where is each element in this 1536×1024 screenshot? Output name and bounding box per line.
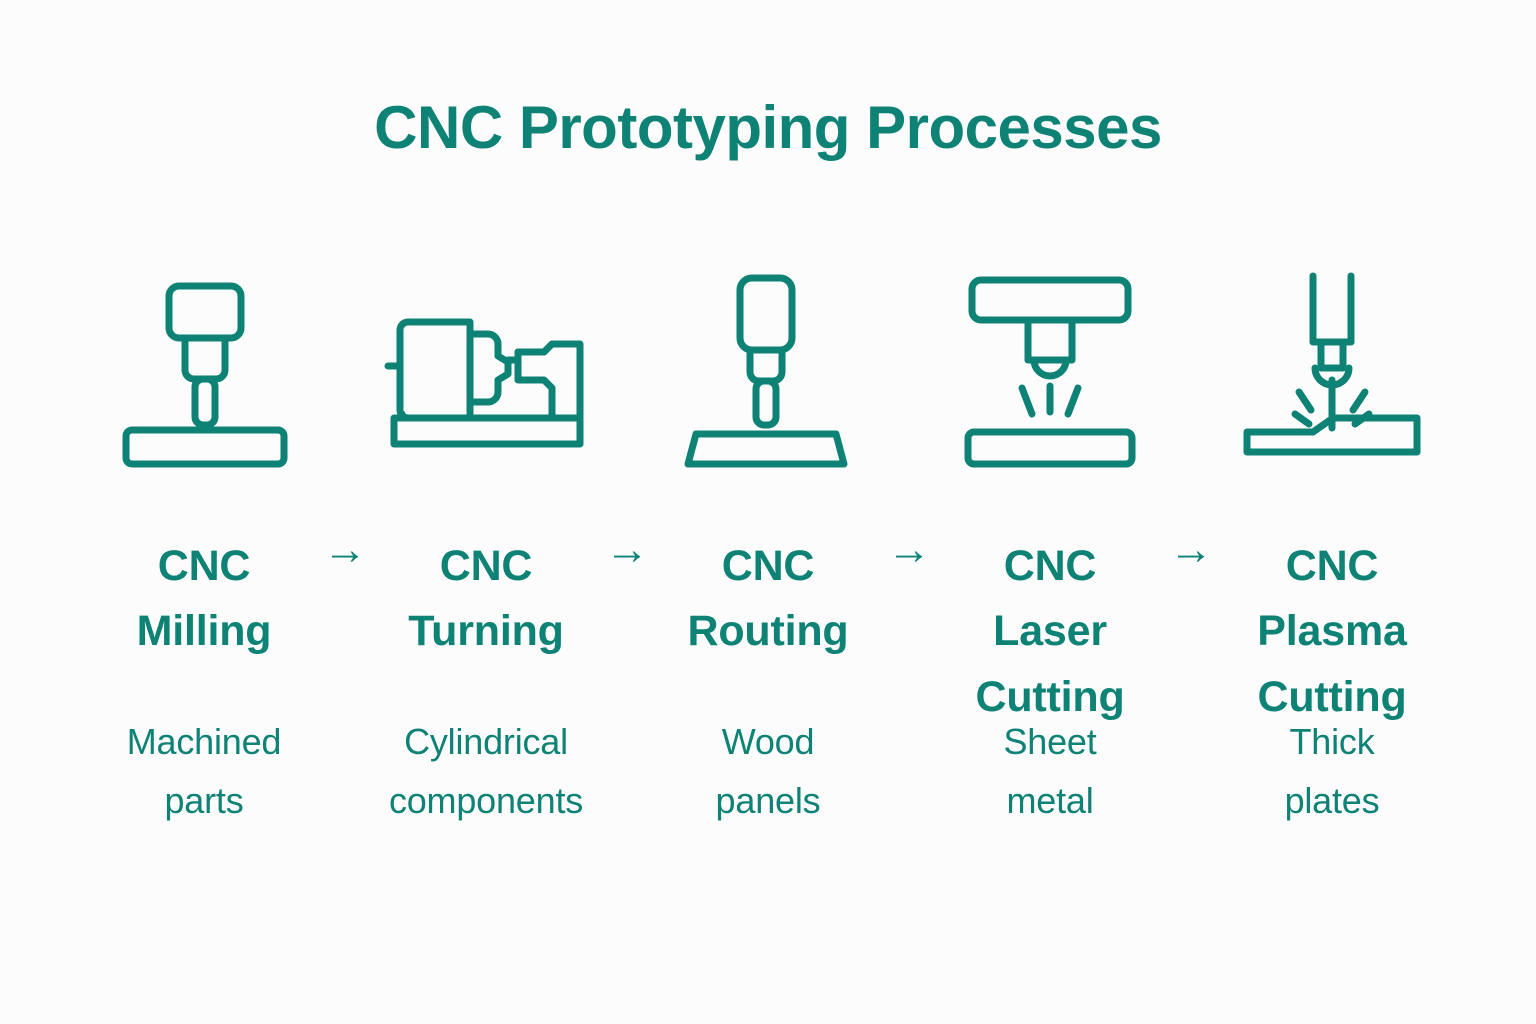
icon-cell-milling: [98, 268, 310, 468]
cnc-turning-icon: [380, 268, 592, 468]
cnc-milling-icon: [119, 268, 289, 468]
caption-line: parts: [98, 771, 310, 830]
label-line: CNC: [662, 534, 874, 599]
process-captions-row: Machined parts Cylindrical components Wo…: [98, 712, 1438, 831]
step-label-plasma: CNC Plasma Cutting: [1226, 498, 1438, 730]
step-caption-laser-text: Sheet metal: [944, 712, 1156, 831]
label-line: Laser: [944, 599, 1156, 664]
cnc-plasma-cutting-icon: [1237, 268, 1427, 468]
label-line: Routing: [662, 599, 874, 664]
caption-line: Wood: [662, 712, 874, 771]
label-line: CNC: [944, 534, 1156, 599]
caption-line: components: [380, 771, 592, 830]
caption-line: panels: [662, 771, 874, 830]
step-label-laser: CNC Laser Cutting: [944, 498, 1156, 730]
step-label-turning-text: CNC Turning: [380, 534, 592, 665]
step-caption-plasma-text: Thick plates: [1226, 712, 1438, 831]
label-line: Plasma: [1226, 599, 1438, 664]
label-line: CNC: [1226, 534, 1438, 599]
step-caption-routing: Wood panels: [662, 712, 874, 831]
icon-cell-plasma: [1226, 268, 1438, 468]
cnc-laser-cutting-icon: [960, 268, 1140, 468]
icon-cell-laser: [944, 268, 1156, 468]
step-caption-milling-text: Machined parts: [98, 712, 310, 831]
infographic-canvas: CNC Prototyping Processes: [0, 0, 1536, 1024]
caption-line: plates: [1226, 771, 1438, 830]
icon-cell-routing: [662, 268, 874, 468]
step-caption-laser: Sheet metal: [944, 712, 1156, 831]
page-title: CNC Prototyping Processes: [0, 95, 1536, 161]
caption-line: Cylindrical: [380, 712, 592, 771]
step-caption-routing-text: Wood panels: [662, 712, 874, 831]
step-label-milling-text: CNC Milling: [98, 534, 310, 665]
step-label-laser-text: CNC Laser Cutting: [944, 534, 1156, 730]
step-label-routing-text: CNC Routing: [662, 534, 874, 665]
step-caption-milling: Machined parts: [98, 712, 310, 831]
cnc-routing-icon: [678, 268, 858, 468]
step-label-routing: CNC Routing: [662, 498, 874, 665]
label-line: Turning: [380, 599, 592, 664]
step-label-plasma-text: CNC Plasma Cutting: [1226, 534, 1438, 730]
step-caption-turning-text: Cylindrical components: [380, 712, 592, 831]
caption-line: Sheet: [944, 712, 1156, 771]
label-line: CNC: [98, 534, 310, 599]
icon-cell-turning: [380, 268, 592, 468]
label-line: CNC: [380, 534, 592, 599]
caption-line: metal: [944, 771, 1156, 830]
process-labels-row: CNC Milling CNC Turning CNC Routing CNC …: [98, 498, 1438, 730]
step-label-turning: CNC Turning: [380, 498, 592, 665]
caption-line: Machined: [98, 712, 310, 771]
step-caption-turning: Cylindrical components: [380, 712, 592, 831]
label-line: Milling: [98, 599, 310, 664]
process-icons-row: [98, 260, 1438, 468]
step-label-milling: CNC Milling: [98, 498, 310, 665]
step-caption-plasma: Thick plates: [1226, 712, 1438, 831]
caption-line: Thick: [1226, 712, 1438, 771]
